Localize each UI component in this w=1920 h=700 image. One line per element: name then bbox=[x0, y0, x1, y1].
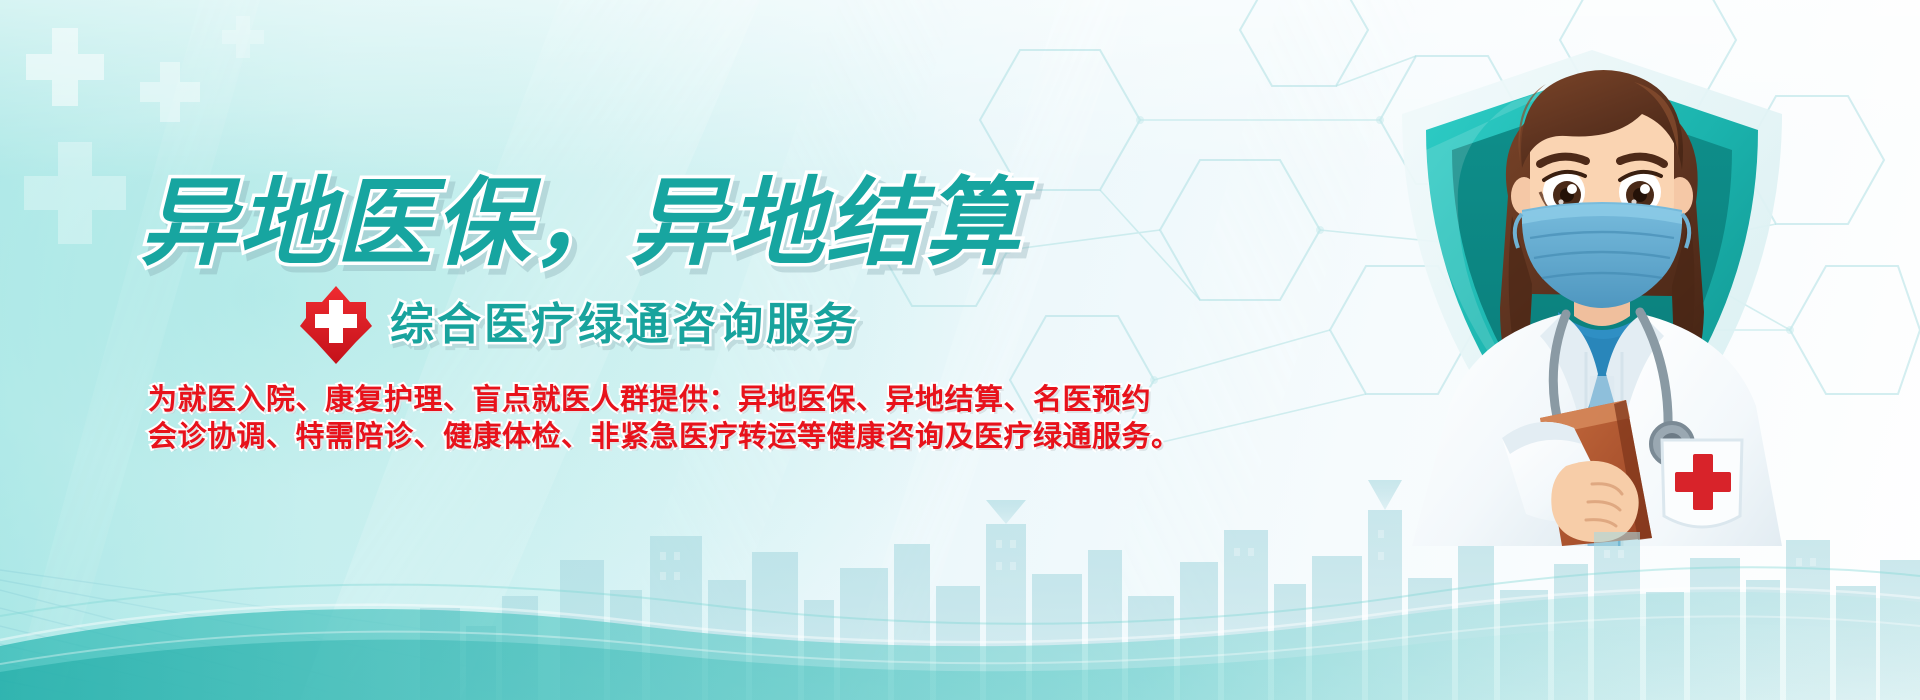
subtitle-text: 综合医疗绿通咨询服务 bbox=[390, 299, 860, 351]
headline-text: 异地医保，异地结算 bbox=[140, 172, 1100, 276]
text-content-block: 异地医保，异地结算 综合医疗绿通咨询服务 为就医入院、康复护理、盲点就医人群提供… bbox=[0, 0, 1180, 700]
body-line-1: 为就医入院、康复护理、盲点就医人群提供：异地医保、异地结算、名医预约 bbox=[148, 382, 1078, 419]
banner-body-copy: 为就医入院、康复护理、盲点就医人群提供：异地医保、异地结算、名医预约 会诊协调、… bbox=[148, 382, 1078, 456]
body-line-2: 会诊协调、特需陪诊、健康体检、非紧急医疗转运等健康咨询及医疗绿通服务。 bbox=[148, 419, 1078, 456]
banner-headline: 异地医保，异地结算 bbox=[140, 172, 1100, 276]
banner-subtitle-row: 综合医疗绿通咨询服务 bbox=[300, 286, 860, 364]
medical-banner: 异地医保，异地结算 综合医疗绿通咨询服务 为就医入院、康复护理、盲点就医人群提供… bbox=[0, 0, 1920, 700]
red-cross-badge-icon bbox=[300, 286, 372, 364]
